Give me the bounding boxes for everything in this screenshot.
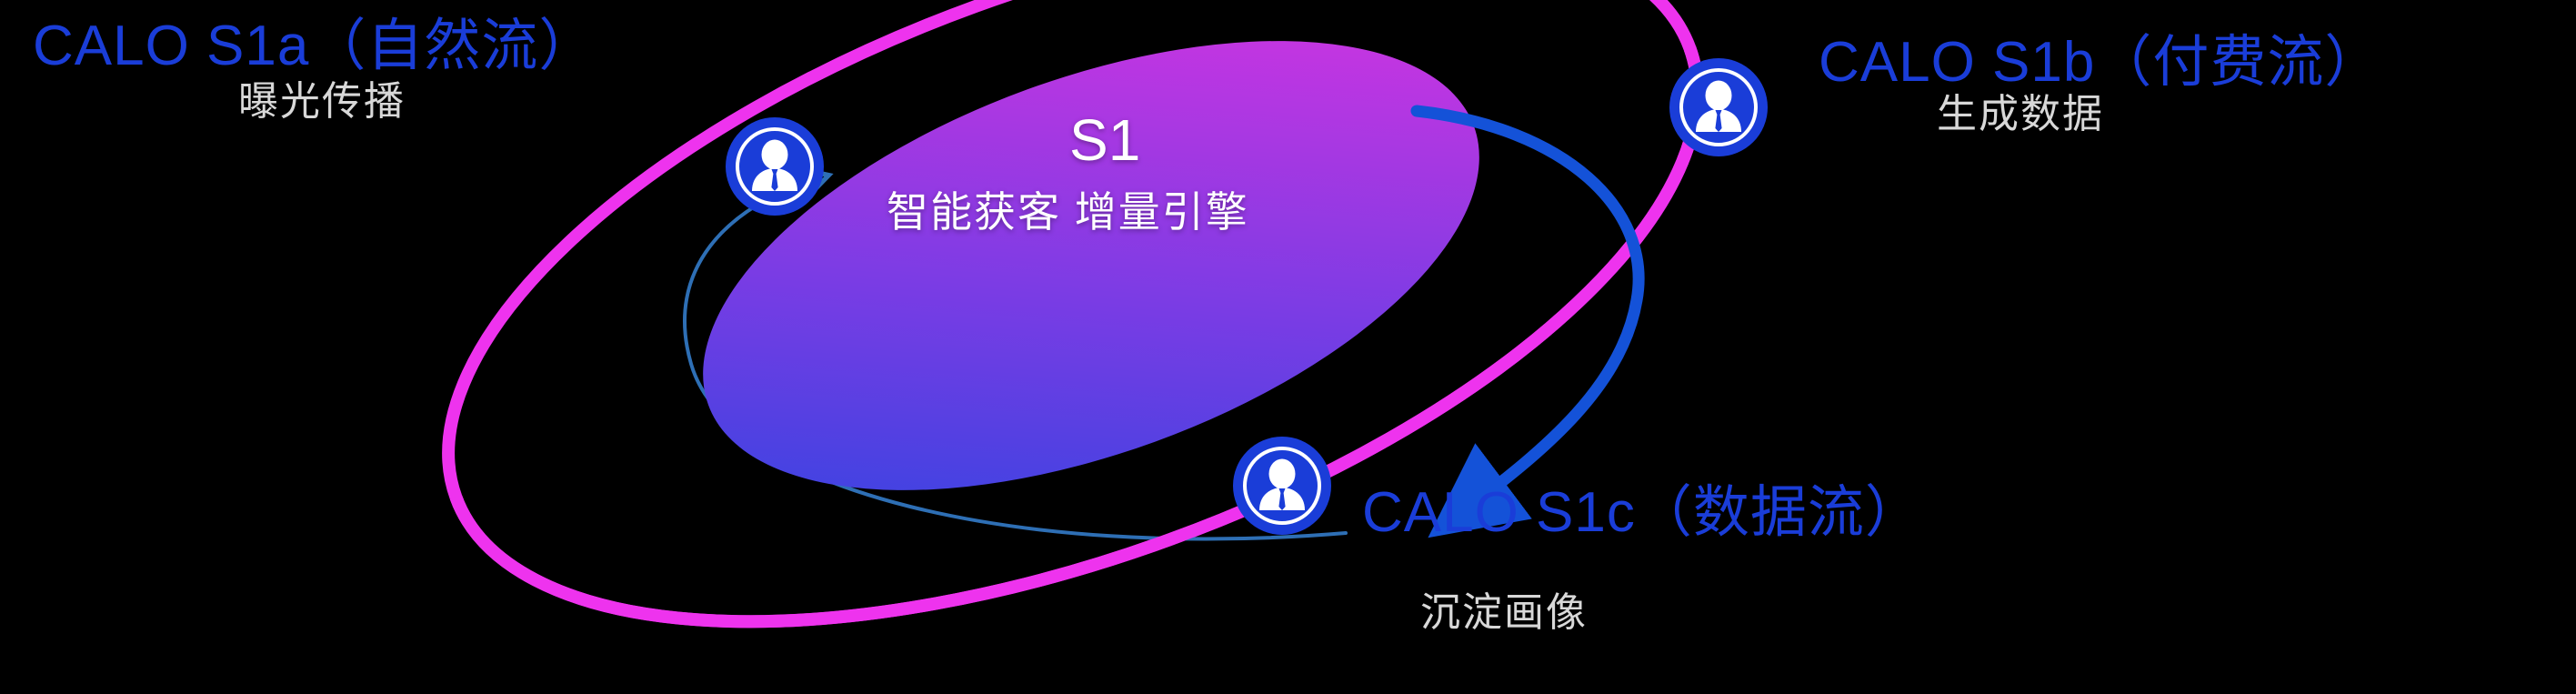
node-s1b[interactable] [1669,58,1768,156]
node-subtitle-s1c: 沉淀画像 [1420,593,1588,633]
node-title-s1c: CALO S1c（数据流） [1362,485,1922,541]
node-subtitle-s1b: 生成数据 [1937,95,2104,135]
core-main-label: S1 [1069,111,1140,169]
node-s1c[interactable] [1233,437,1331,535]
diagram-canvas: S1 智能获客 增量引擎 CALO S1a（自然流） 曝光传播 CALO S1b… [0,0,2576,694]
node-title-s1a: CALO S1a（自然流） [33,18,596,75]
node-s1a[interactable] [726,117,824,216]
node-subtitle-s1a: 曝光传播 [238,82,406,122]
node-title-s1b: CALO S1b（付费流） [1819,35,2381,91]
core-sub-label: 智能获客 增量引擎 [887,191,1249,233]
